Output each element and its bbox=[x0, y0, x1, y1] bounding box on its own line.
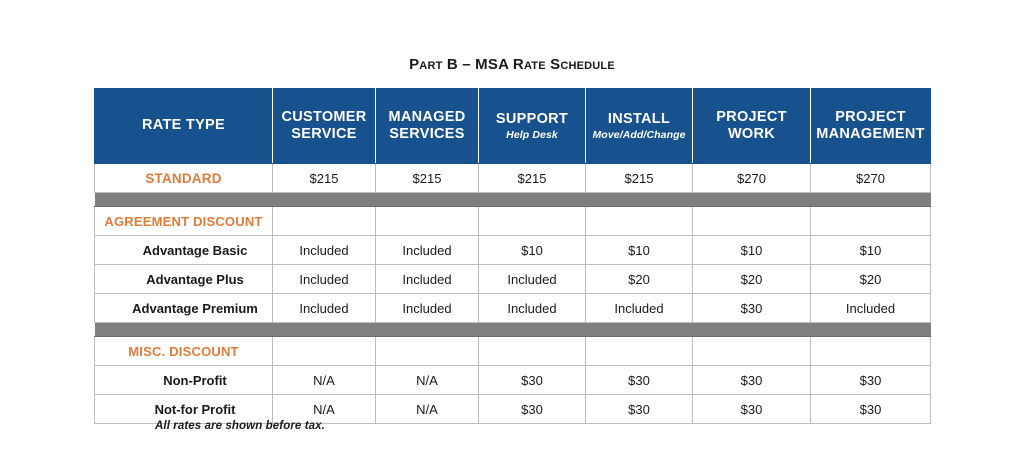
rate-cell bbox=[273, 207, 376, 236]
table-body: STANDARD$215$215$215$215$270$270AGREEMEN… bbox=[95, 164, 931, 424]
column-header-line1: PROJECT bbox=[695, 109, 808, 126]
rate-cell: N/A bbox=[376, 395, 479, 424]
row-label: Advantage Plus bbox=[95, 265, 273, 294]
rate-cell: N/A bbox=[273, 366, 376, 395]
column-header-project-management: PROJECT MANAGEMENT bbox=[811, 89, 931, 164]
column-header-line1: MANAGED bbox=[378, 109, 476, 126]
rate-cell: $20 bbox=[811, 265, 931, 294]
page-title: Part B – MSA Rate Schedule bbox=[0, 56, 1024, 73]
rate-cell: $215 bbox=[376, 164, 479, 193]
rate-cell: Included bbox=[273, 236, 376, 265]
column-header-subtitle: Move/Add/Change bbox=[588, 129, 690, 141]
column-header-managed-services: MANAGED SERVICES bbox=[376, 89, 479, 164]
rate-cell: $30 bbox=[693, 366, 811, 395]
table-row: AGREEMENT DISCOUNT bbox=[95, 207, 931, 236]
spacer-cell bbox=[95, 193, 931, 207]
table-row: Advantage PremiumIncludedIncludedInclude… bbox=[95, 294, 931, 323]
column-header-line1: PROJECT bbox=[813, 109, 928, 126]
rate-cell: Included bbox=[376, 294, 479, 323]
column-header-subtitle: Help Desk bbox=[481, 129, 583, 141]
rate-cell bbox=[586, 337, 693, 366]
column-header-line2: WORK bbox=[695, 126, 808, 143]
column-header-install: INSTALL Move/Add/Change bbox=[586, 89, 693, 164]
rate-cell: $215 bbox=[479, 164, 586, 193]
rate-cell: Included bbox=[479, 265, 586, 294]
rate-cell: $270 bbox=[811, 164, 931, 193]
rate-cell: $30 bbox=[693, 395, 811, 424]
rate-cell: $10 bbox=[586, 236, 693, 265]
table-spacer-row bbox=[95, 323, 931, 337]
rate-cell: Included bbox=[273, 265, 376, 294]
column-header-rate-type: RATE TYPE bbox=[95, 89, 273, 164]
column-header-line1: INSTALL bbox=[588, 111, 690, 128]
rate-cell: $270 bbox=[693, 164, 811, 193]
column-header-line2: SERVICES bbox=[378, 126, 476, 143]
spacer-cell bbox=[95, 323, 931, 337]
row-label: Non-Profit bbox=[95, 366, 273, 395]
table-row: Advantage PlusIncludedIncludedIncluded$2… bbox=[95, 265, 931, 294]
rate-cell bbox=[376, 207, 479, 236]
row-label: MISC. DISCOUNT bbox=[95, 337, 273, 366]
rate-cell: $30 bbox=[586, 395, 693, 424]
row-label: STANDARD bbox=[95, 164, 273, 193]
table-row: STANDARD$215$215$215$215$270$270 bbox=[95, 164, 931, 193]
rate-cell: $20 bbox=[586, 265, 693, 294]
column-header-customer-service: CUSTOMER SERVICE bbox=[273, 89, 376, 164]
row-label: Advantage Premium bbox=[95, 294, 273, 323]
row-label: AGREEMENT DISCOUNT bbox=[95, 207, 273, 236]
rate-cell: Included bbox=[376, 265, 479, 294]
rate-cell: $30 bbox=[586, 366, 693, 395]
rate-cell: $30 bbox=[693, 294, 811, 323]
table-spacer-row bbox=[95, 193, 931, 207]
table-header: RATE TYPE CUSTOMER SERVICE MANAGED SERVI… bbox=[95, 89, 931, 164]
column-header-line1: CUSTOMER bbox=[275, 109, 373, 126]
rate-cell: $30 bbox=[479, 395, 586, 424]
rate-cell: Included bbox=[273, 294, 376, 323]
column-header-line1: SUPPORT bbox=[481, 111, 583, 128]
column-header-support: SUPPORT Help Desk bbox=[479, 89, 586, 164]
rate-cell: $30 bbox=[479, 366, 586, 395]
rate-cell: Included bbox=[586, 294, 693, 323]
rate-cell bbox=[479, 337, 586, 366]
rate-cell bbox=[811, 207, 931, 236]
rate-cell: $215 bbox=[273, 164, 376, 193]
rate-cell bbox=[376, 337, 479, 366]
rate-cell bbox=[273, 337, 376, 366]
table-row: MISC. DISCOUNT bbox=[95, 337, 931, 366]
column-header-line1: RATE TYPE bbox=[97, 117, 270, 134]
table-row: Advantage BasicIncludedIncluded$10$10$10… bbox=[95, 236, 931, 265]
rate-cell bbox=[693, 337, 811, 366]
rate-cell bbox=[586, 207, 693, 236]
column-header-line2: SERVICE bbox=[275, 126, 373, 143]
footnote: All rates are shown before tax. bbox=[155, 420, 325, 432]
rate-cell: Included bbox=[376, 236, 479, 265]
rate-cell: $30 bbox=[811, 366, 931, 395]
rate-cell bbox=[811, 337, 931, 366]
row-label: Advantage Basic bbox=[95, 236, 273, 265]
rate-cell: $30 bbox=[811, 395, 931, 424]
rate-cell: $10 bbox=[479, 236, 586, 265]
rate-cell: $215 bbox=[586, 164, 693, 193]
rate-cell: N/A bbox=[376, 366, 479, 395]
rate-schedule-table-container: RATE TYPE CUSTOMER SERVICE MANAGED SERVI… bbox=[94, 88, 930, 424]
rate-cell bbox=[693, 207, 811, 236]
rate-cell: Included bbox=[811, 294, 931, 323]
rate-cell bbox=[479, 207, 586, 236]
column-header-project-work: PROJECT WORK bbox=[693, 89, 811, 164]
rate-cell: $10 bbox=[693, 236, 811, 265]
rate-cell: $20 bbox=[693, 265, 811, 294]
table-header-row: RATE TYPE CUSTOMER SERVICE MANAGED SERVI… bbox=[95, 89, 931, 164]
rate-schedule-table: RATE TYPE CUSTOMER SERVICE MANAGED SERVI… bbox=[94, 88, 931, 424]
rate-cell: $10 bbox=[811, 236, 931, 265]
column-header-line2: MANAGEMENT bbox=[813, 126, 928, 143]
rate-cell: Included bbox=[479, 294, 586, 323]
rate-schedule-page: Part B – MSA Rate Schedule RATE TYPE CUS… bbox=[0, 0, 1024, 473]
table-row: Non-ProfitN/AN/A$30$30$30$30 bbox=[95, 366, 931, 395]
